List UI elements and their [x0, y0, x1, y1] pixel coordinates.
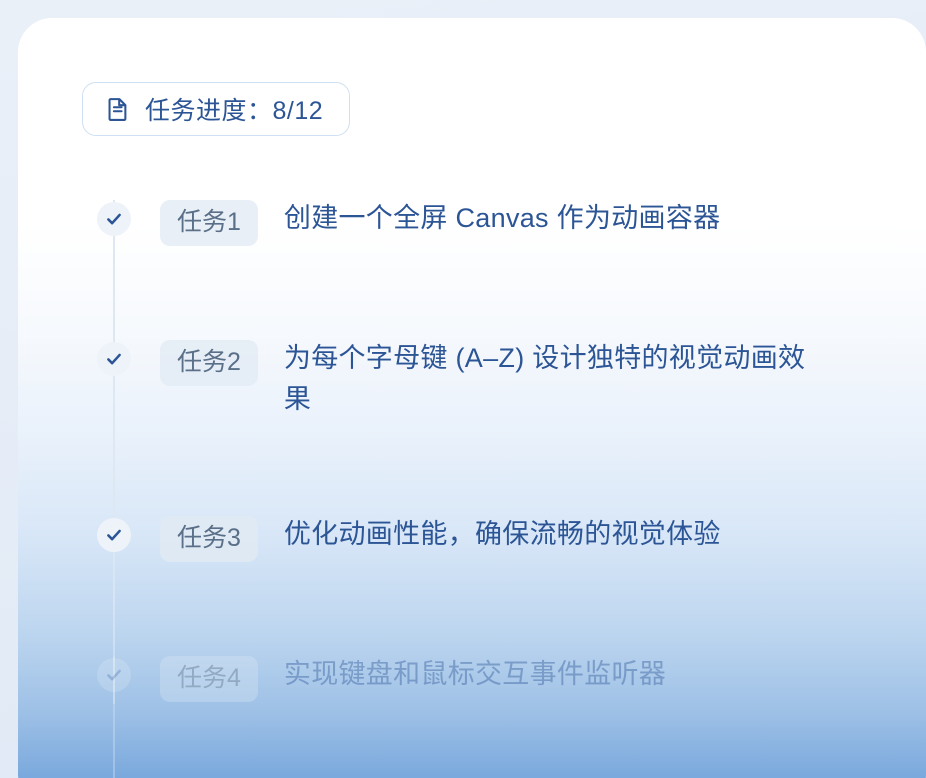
task-description: 优化动画性能，确保流畅的视觉体验 [284, 514, 721, 555]
task-number-chip: 任务4 [160, 656, 258, 702]
task-row[interactable]: 任务3 优化动画性能，确保流畅的视觉体验 [82, 494, 886, 634]
task-row[interactable]: 任务4 实现键盘和鼠标交互事件监听器 [82, 634, 886, 754]
task-row[interactable]: 任务1 创建一个全屏 Canvas 作为动画容器 [82, 178, 886, 318]
task-progress-card: 任务进度：8/12 任务1 创建一个全屏 Canvas 作为动 [18, 18, 926, 778]
screen-background: 任务进度：8/12 任务1 创建一个全屏 Canvas 作为动 [0, 0, 926, 778]
task-status-indicator[interactable] [97, 202, 131, 236]
task-timeline: 任务1 创建一个全屏 Canvas 作为动画容器 任务2 为每个字母 [82, 178, 886, 754]
check-icon [105, 526, 123, 544]
task-marker [82, 318, 146, 494]
task-row[interactable]: 任务2 为每个字母键 (A–Z) 设计独特的视觉动画效果 [82, 318, 886, 494]
task-number-chip: 任务1 [160, 200, 258, 246]
task-marker [82, 634, 146, 754]
task-status-indicator[interactable] [97, 342, 131, 376]
check-icon [105, 210, 123, 228]
progress-badge[interactable]: 任务进度：8/12 [82, 82, 350, 136]
check-icon [105, 666, 123, 684]
progress-label: 任务进度：8/12 [145, 91, 323, 127]
task-description: 实现键盘和鼠标交互事件监听器 [284, 654, 666, 695]
task-marker [82, 494, 146, 634]
task-status-indicator[interactable] [97, 518, 131, 552]
check-icon [105, 350, 123, 368]
document-icon [105, 96, 131, 122]
task-marker [82, 178, 146, 318]
task-description: 为每个字母键 (A–Z) 设计独特的视觉动画效果 [284, 338, 824, 420]
task-description: 创建一个全屏 Canvas 作为动画容器 [284, 198, 721, 239]
task-number-chip: 任务2 [160, 340, 258, 386]
task-status-indicator[interactable] [97, 658, 131, 692]
task-number-chip: 任务3 [160, 516, 258, 562]
